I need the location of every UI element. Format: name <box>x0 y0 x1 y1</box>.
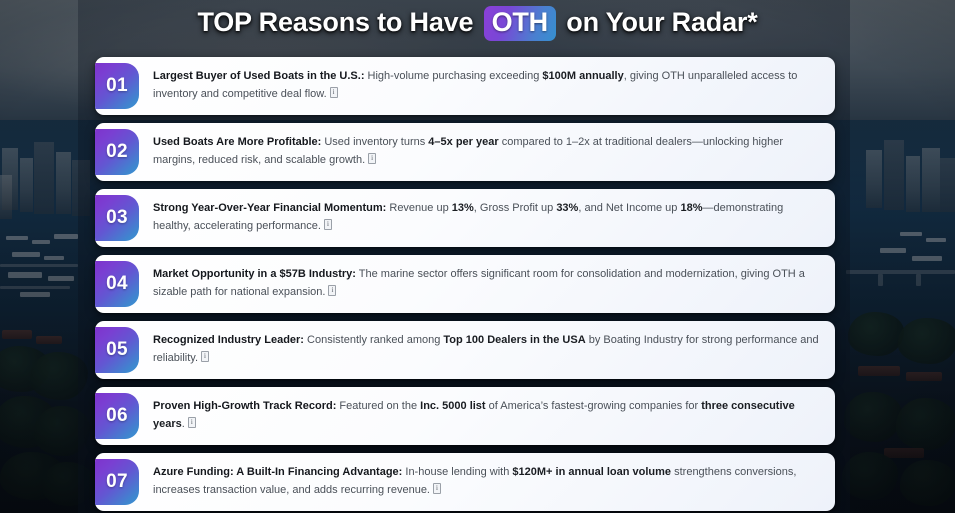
reason-number-badge: 04 <box>95 261 139 307</box>
reason-body: Strong Year-Over-Year Financial Momentum… <box>139 189 835 247</box>
reason-emphasis: 13% <box>452 202 474 214</box>
citation-marker[interactable]: i <box>188 417 196 428</box>
reason-lead: Proven High-Growth Track Record: <box>153 400 336 412</box>
citation-marker[interactable]: i <box>328 285 336 296</box>
reason-lead: Azure Funding: A Built-In Financing Adva… <box>153 466 402 478</box>
reason-emphasis: 33% <box>556 202 578 214</box>
reason-card[interactable]: 03Strong Year-Over-Year Financial Moment… <box>95 189 835 247</box>
reason-number-badge: 07 <box>95 459 139 505</box>
reason-body: Recognized Industry Leader: Consistently… <box>139 321 835 379</box>
reason-card[interactable]: 02Used Boats Are More Profitable: Used i… <box>95 123 835 181</box>
reason-segment: . <box>182 418 185 430</box>
reason-number-badge: 02 <box>95 129 139 175</box>
reason-segment: Used inventory turns <box>321 136 428 148</box>
citation-marker[interactable]: i <box>324 219 332 230</box>
reason-lead: Recognized Industry Leader: <box>153 334 304 346</box>
page-title-text: TOP Reasons to Have OTH on Your Radar* <box>197 6 757 41</box>
reason-emphasis: Top 100 Dealers in the USA <box>443 334 585 346</box>
reason-segment: Revenue up <box>386 202 451 214</box>
reason-body: Proven High-Growth Track Record: Feature… <box>139 387 835 445</box>
reason-emphasis: $100M annually <box>542 70 623 82</box>
reason-text: Strong Year-Over-Year Financial Momentum… <box>153 200 819 236</box>
reason-body: Largest Buyer of Used Boats in the U.S.:… <box>139 57 835 115</box>
reason-number-badge: 03 <box>95 195 139 241</box>
reason-lead: Strong Year-Over-Year Financial Momentum… <box>153 202 386 214</box>
title-text-before: TOP Reasons to Have <box>197 7 480 37</box>
reason-lead: Used Boats Are More Profitable: <box>153 136 321 148</box>
reason-card[interactable]: 01Largest Buyer of Used Boats in the U.S… <box>95 57 835 115</box>
reason-card[interactable]: 07Azure Funding: A Built-In Financing Ad… <box>95 453 835 511</box>
reason-text: Azure Funding: A Built-In Financing Adva… <box>153 464 819 500</box>
page-title: TOP Reasons to Have OTH on Your Radar* <box>0 6 955 41</box>
reason-lead: Largest Buyer of Used Boats in the U.S.: <box>153 70 364 82</box>
reason-text: Market Opportunity in a $57B Industry: T… <box>153 266 819 302</box>
reason-segment: High-volume purchasing exceeding <box>364 70 542 82</box>
reason-emphasis: $120M+ in annual loan volume <box>512 466 671 478</box>
reason-segment: Featured on the <box>336 400 420 412</box>
reason-emphasis: Inc. 5000 list <box>420 400 485 412</box>
reason-lead: Market Opportunity in a $57B Industry: <box>153 268 356 280</box>
reasons-list: 01Largest Buyer of Used Boats in the U.S… <box>95 57 835 513</box>
citation-marker[interactable]: i <box>368 153 376 164</box>
reason-number-badge: 01 <box>95 63 139 109</box>
title-text-after: on Your Radar* <box>559 7 758 37</box>
reason-text: Largest Buyer of Used Boats in the U.S.:… <box>153 68 819 104</box>
reason-body: Azure Funding: A Built-In Financing Adva… <box>139 453 835 511</box>
reason-text: Used Boats Are More Profitable: Used inv… <box>153 134 819 170</box>
reason-segment: , and Net Income up <box>578 202 680 214</box>
reason-text: Recognized Industry Leader: Consistently… <box>153 332 819 368</box>
reason-emphasis: 18% <box>680 202 702 214</box>
citation-marker[interactable]: i <box>330 87 338 98</box>
reason-card[interactable]: 05Recognized Industry Leader: Consistent… <box>95 321 835 379</box>
reason-card[interactable]: 06Proven High-Growth Track Record: Featu… <box>95 387 835 445</box>
slide-root: TOP Reasons to Have OTH on Your Radar* 0… <box>0 0 955 513</box>
reason-segment: In-house lending with <box>402 466 512 478</box>
reason-emphasis: 4–5x per year <box>428 136 498 148</box>
reason-card[interactable]: 04Market Opportunity in a $57B Industry:… <box>95 255 835 313</box>
reason-text: Proven High-Growth Track Record: Feature… <box>153 398 819 434</box>
citation-marker[interactable]: i <box>201 351 209 362</box>
reason-number-badge: 05 <box>95 327 139 373</box>
reason-body: Market Opportunity in a $57B Industry: T… <box>139 255 835 313</box>
citation-marker[interactable]: i <box>433 483 441 494</box>
reason-segment: , Gross Profit up <box>474 202 557 214</box>
reason-body: Used Boats Are More Profitable: Used inv… <box>139 123 835 181</box>
oth-highlight-badge: OTH <box>484 6 556 41</box>
reason-number-badge: 06 <box>95 393 139 439</box>
reason-segment: Consistently ranked among <box>304 334 443 346</box>
reason-segment: of America’s fastest-growing companies f… <box>486 400 702 412</box>
